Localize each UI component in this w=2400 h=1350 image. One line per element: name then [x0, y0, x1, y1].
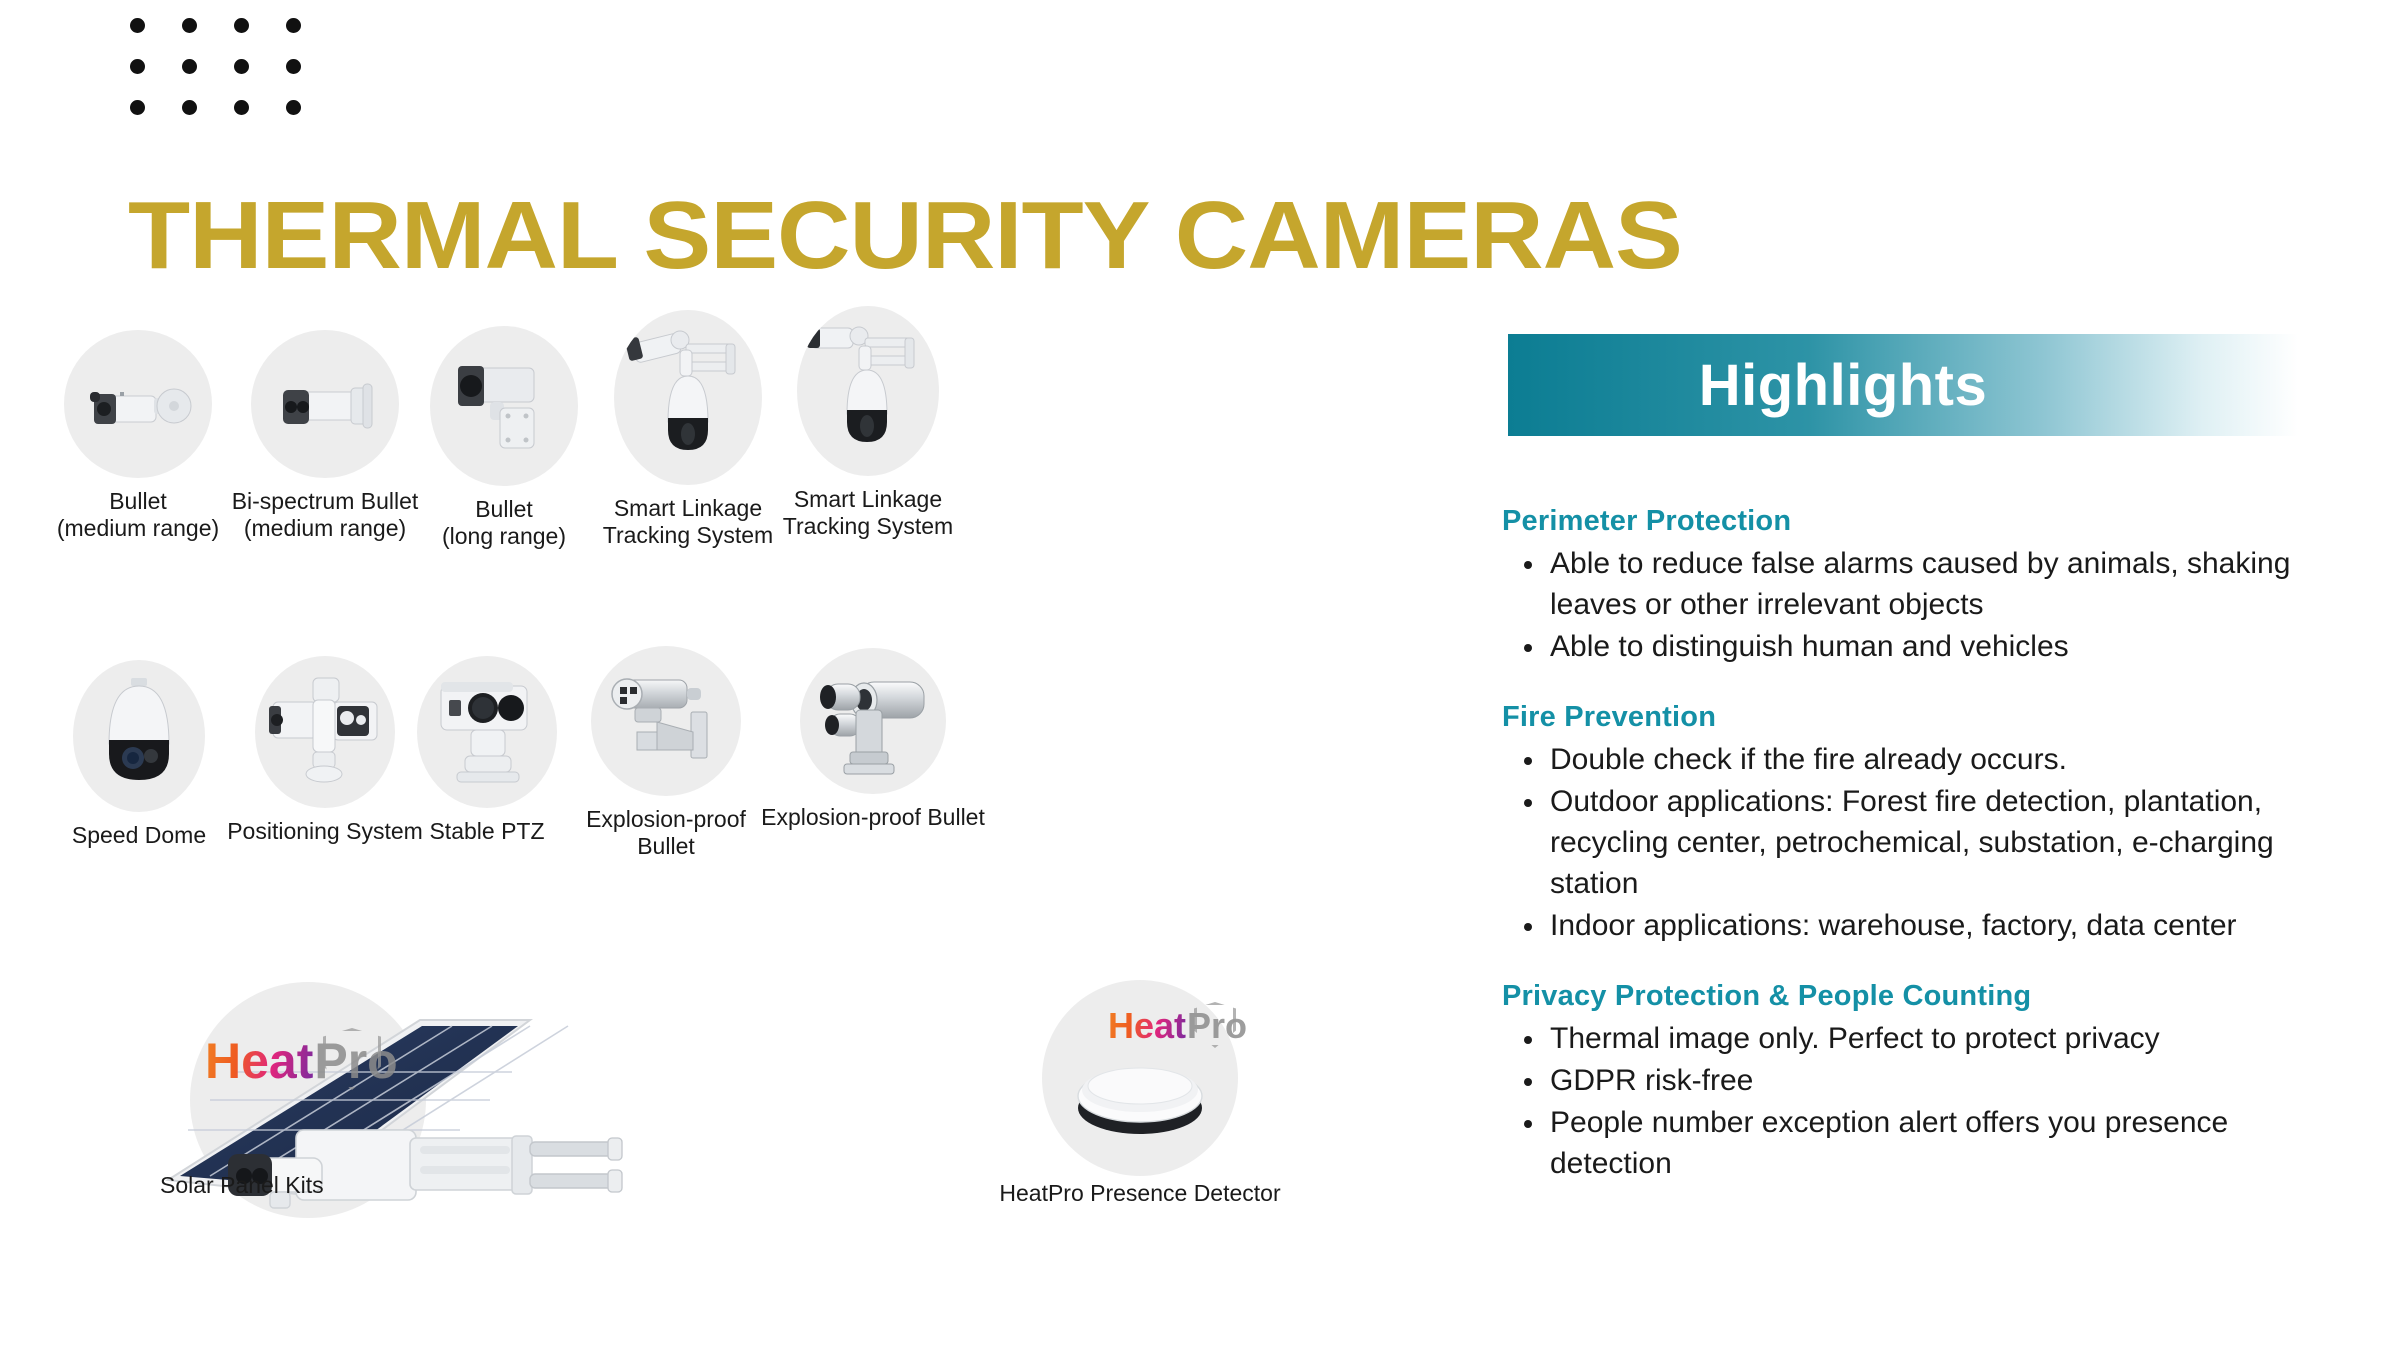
product-image-circle	[255, 656, 395, 808]
highlight-bullet: Indoor applications: warehouse, factory,…	[1502, 906, 2352, 947]
product-image-circle	[73, 660, 205, 812]
product-image-circle	[591, 646, 741, 796]
product-item-explosion-proof-bullet[interactable]: Explosion-proof Bullet	[566, 646, 766, 860]
highlight-bullet: People number exception alert offers you…	[1502, 1103, 2352, 1185]
product-item-solar-panel-kits[interactable]: HeatPro Solar Panel Kits	[60, 990, 680, 1220]
product-item-stable-ptz[interactable]: Stable PTZ	[392, 656, 582, 845]
dot	[182, 100, 197, 115]
highlight-bullet: Double check if the fire already occurs.	[1502, 740, 2352, 781]
dot	[234, 59, 249, 74]
dot	[130, 18, 145, 33]
product-label: Bullet (long range)	[404, 496, 604, 550]
product-label: HeatPro Presence Detector	[930, 1180, 1350, 1207]
product-label: Smart Linkage Tracking System	[758, 486, 978, 540]
heatpro-logo: HeatPro	[205, 1036, 398, 1086]
highlights-banner: Highlights	[1508, 334, 2298, 436]
product-label: Stable PTZ	[392, 818, 582, 845]
highlight-bullet: Outdoor applications: Forest fire detect…	[1502, 782, 2352, 904]
smart-linkage-tracking-system-icon	[797, 306, 939, 476]
dot	[182, 18, 197, 33]
heatpro-logo-heat: Heat	[205, 1036, 313, 1086]
product-grid: Bullet (medium range) Bi-spectrum Bullet…	[0, 330, 1460, 1340]
dot-grid-decoration	[130, 18, 338, 141]
dot	[234, 100, 249, 115]
highlight-bullet: Able to distinguish human and vehicles	[1502, 627, 2352, 668]
highlight-bullet: Able to reduce false alarms caused by an…	[1502, 544, 2352, 626]
highlight-section-fire: Fire Prevention Double check if the fire…	[1502, 701, 2352, 946]
highlight-section-privacy: Privacy Protection & People Counting The…	[1502, 980, 2352, 1184]
explosion-proof-bullet-icon	[591, 646, 741, 796]
product-image-circle	[614, 310, 762, 485]
product-item-bullet-medium[interactable]: Bullet (medium range)	[48, 330, 228, 542]
product-item-explosion-proof-ptz[interactable]: Explosion-proof Bullet	[748, 648, 998, 831]
product-label: Speed Dome	[44, 822, 234, 849]
dot	[234, 18, 249, 33]
highlight-heading: Privacy Protection & People Counting	[1502, 980, 2352, 1013]
highlight-section-perimeter: Perimeter Protection Able to reduce fals…	[1502, 505, 2352, 667]
product-label: Bullet (medium range)	[48, 488, 228, 542]
bispectrum-bullet-camera-icon	[251, 330, 399, 478]
highlight-bullet-list: Thermal image only. Perfect to protect p…	[1502, 1019, 2352, 1184]
product-label: Explosion-proof Bullet	[566, 806, 766, 860]
highlight-bullet-list: Double check if the fire already occurs.…	[1502, 740, 2352, 946]
dot	[130, 100, 145, 115]
product-label: Explosion-proof Bullet	[748, 804, 998, 831]
product-label: Bi-spectrum Bullet (medium range)	[215, 488, 435, 542]
highlight-bullet: Thermal image only. Perfect to protect p…	[1502, 1019, 2352, 1060]
highlight-bullet-list: Able to reduce false alarms caused by an…	[1502, 544, 2352, 667]
product-image-circle	[417, 656, 557, 808]
product-image-circle	[800, 648, 946, 794]
heatpro-logo: HeatPro	[1108, 1008, 1247, 1044]
highlight-heading: Perimeter Protection	[1502, 505, 2352, 538]
highlights-body: Perimeter Protection Able to reduce fals…	[1502, 505, 2352, 1186]
product-label: Solar Panel Kits	[160, 1172, 420, 1199]
highlight-heading: Fire Prevention	[1502, 701, 2352, 734]
stable-ptz-camera-icon	[417, 656, 557, 808]
page-title: THERMAL SECURITY CAMERAS	[128, 188, 1682, 284]
product-item-presence-detector[interactable]: HeatPro HeatPro Presence Detector	[930, 980, 1350, 1210]
long-range-bullet-camera-icon	[430, 326, 578, 486]
bullet-camera-icon	[64, 330, 212, 478]
slide-root: THERMAL SECURITY CAMERAS	[0, 0, 2400, 1350]
product-image-circle	[64, 330, 212, 478]
dot	[130, 59, 145, 74]
product-item-smart-linkage-2[interactable]: Smart Linkage Tracking System	[758, 306, 978, 540]
product-image-circle	[251, 330, 399, 478]
smart-linkage-tracking-system-icon	[614, 310, 762, 485]
product-image-circle	[430, 326, 578, 486]
dot	[182, 59, 197, 74]
explosion-proof-ptz-icon	[800, 648, 946, 794]
product-image-circle	[797, 306, 939, 476]
highlight-bullet: GDPR risk-free	[1502, 1061, 2352, 1102]
dot	[286, 18, 301, 33]
positioning-system-camera-icon	[255, 656, 395, 808]
highlights-banner-title: Highlights	[1508, 334, 2298, 436]
product-item-bispectrum-bullet[interactable]: Bi-spectrum Bullet (medium range)	[215, 330, 435, 542]
heatpro-logo-heat: Heat	[1108, 1008, 1186, 1044]
dot	[286, 100, 301, 115]
product-item-speed-dome[interactable]: Speed Dome	[44, 660, 234, 849]
speed-dome-camera-icon	[73, 660, 205, 812]
dot	[286, 59, 301, 74]
product-item-bullet-long[interactable]: Bullet (long range)	[404, 326, 604, 550]
